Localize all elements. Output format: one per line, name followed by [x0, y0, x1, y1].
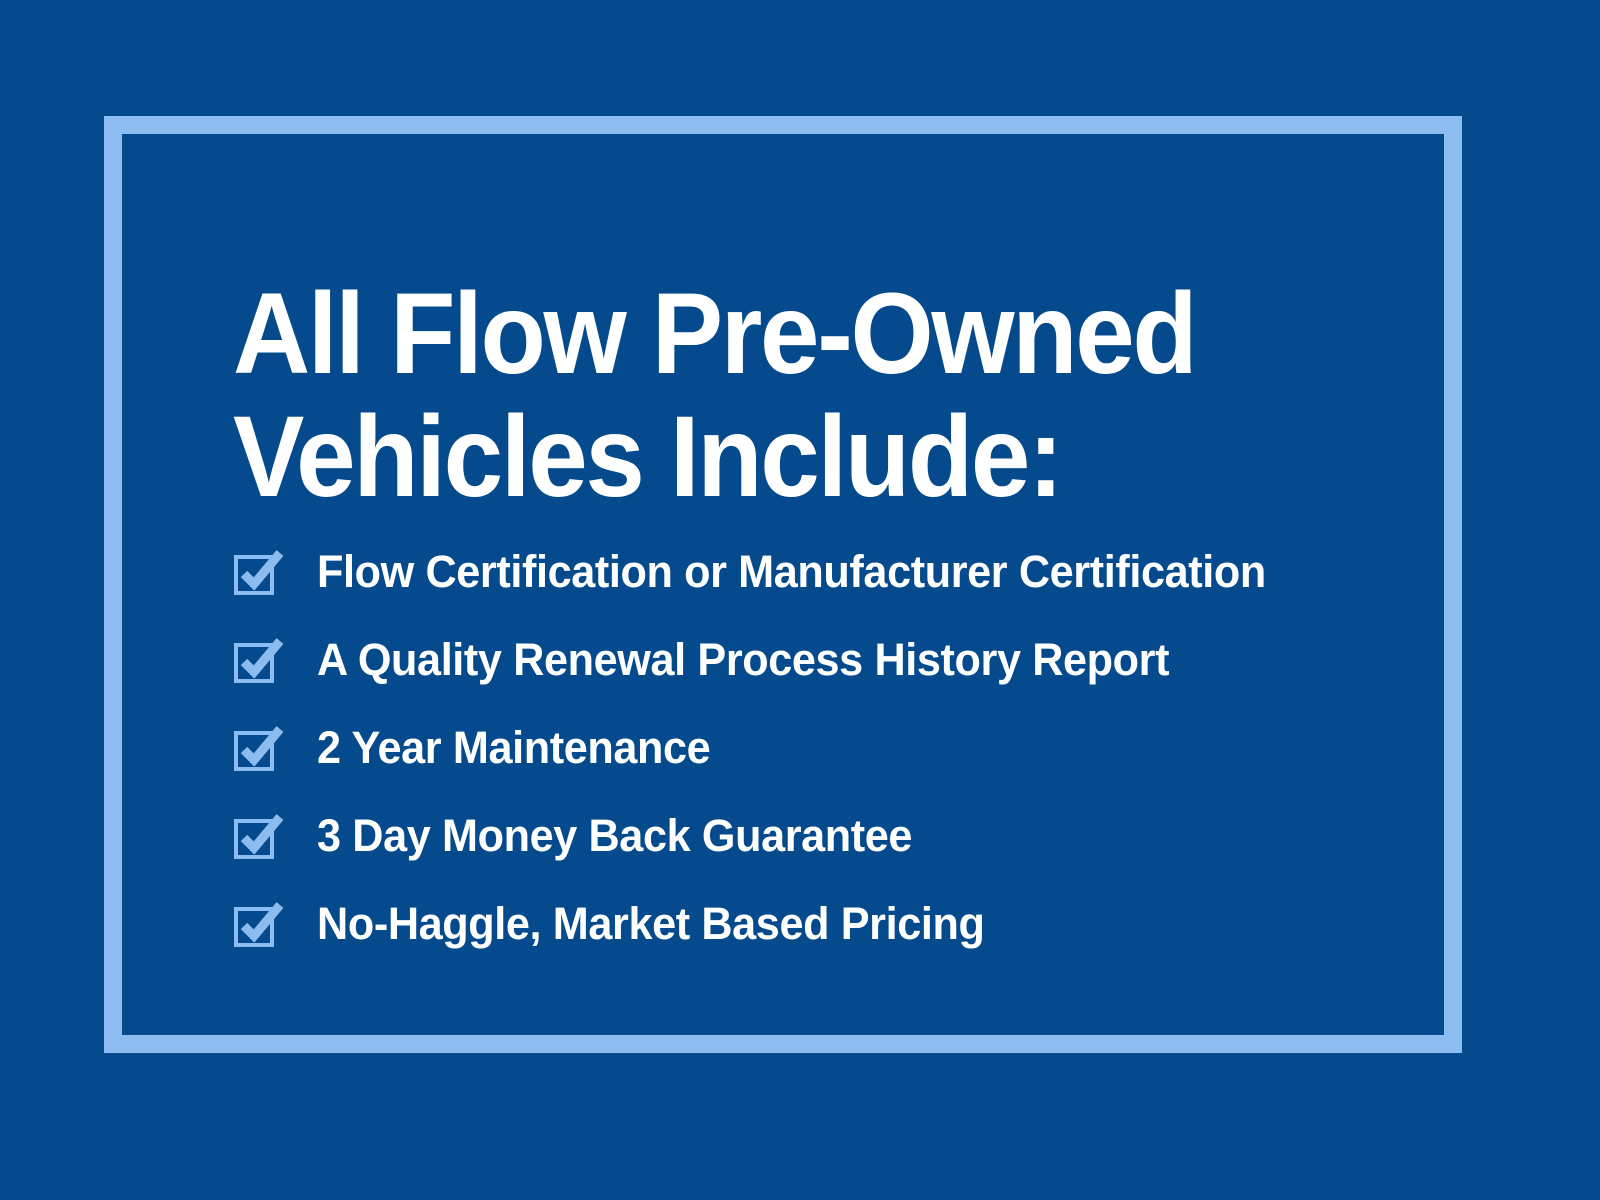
list-item: A Quality Renewal Process History Report	[233, 616, 1493, 704]
list-item: Flow Certification or Manufacturer Certi…	[233, 528, 1493, 616]
checked-checkbox-icon	[233, 900, 285, 948]
list-item-label: No-Haggle, Market Based Pricing	[317, 900, 984, 948]
checked-checkbox-icon	[233, 812, 285, 860]
checked-checkbox-icon	[233, 724, 285, 772]
list-item: No-Haggle, Market Based Pricing	[233, 880, 1493, 968]
list-item: 2 Year Maintenance	[233, 704, 1493, 792]
benefits-checklist: Flow Certification or Manufacturer Certi…	[233, 528, 1493, 968]
list-item-label: A Quality Renewal Process History Report	[317, 636, 1169, 684]
list-item-label: Flow Certification or Manufacturer Certi…	[317, 548, 1266, 596]
checked-checkbox-icon	[233, 636, 285, 684]
page-title: All Flow Pre-Owned Vehicles Include:	[233, 273, 1256, 519]
list-item-label: 2 Year Maintenance	[317, 724, 710, 772]
list-item: 3 Day Money Back Guarantee	[233, 792, 1493, 880]
pre-owned-benefits-card: All Flow Pre-Owned Vehicles Include: Flo…	[0, 0, 1600, 1200]
checked-checkbox-icon	[233, 548, 285, 596]
list-item-label: 3 Day Money Back Guarantee	[317, 812, 912, 860]
